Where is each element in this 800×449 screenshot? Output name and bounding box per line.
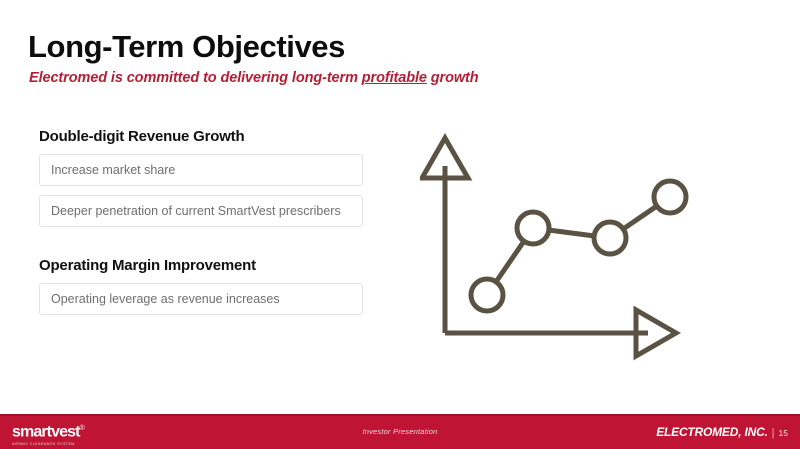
page-title: Long-Term Objectives	[28, 30, 345, 64]
company-name: ELECTROMED, INC.	[656, 425, 767, 439]
subtitle-after: growth	[427, 70, 479, 86]
page-number: 15	[779, 428, 788, 438]
subtitle-emphasis: profitable	[362, 70, 427, 86]
chart-node-3	[594, 222, 626, 254]
bullet-box-increase-market-share[interactable]: Increase market share	[39, 154, 363, 186]
chart-node-1	[471, 279, 503, 311]
chart-series-line	[487, 197, 670, 295]
smartvest-logo-tagline: AIRWAY CLEARANCE SYSTEM	[12, 441, 84, 447]
footer-separator: |	[772, 427, 775, 439]
footer-bar: smartvest® AIRWAY CLEARANCE SYSTEM Inves…	[0, 414, 800, 449]
section-heading-revenue-growth: Double-digit Revenue Growth	[39, 128, 363, 145]
chart-node-2	[517, 212, 549, 244]
chart-node-4	[654, 181, 686, 213]
section-heading-operating-margin: Operating Margin Improvement	[39, 257, 363, 274]
bullet-box-operating-leverage[interactable]: Operating leverage as revenue increases	[39, 283, 363, 315]
bullet-box-deeper-penetration[interactable]: Deeper penetration of current SmartVest …	[39, 195, 363, 227]
subtitle-before: Electromed is committed to delivering lo…	[29, 70, 362, 86]
footer-right-group: ELECTROMED, INC. | 15	[656, 425, 788, 439]
slide-canvas: Long-Term Objectives Electromed is commi…	[0, 0, 800, 449]
page-subtitle: Electromed is committed to delivering lo…	[29, 70, 479, 86]
growth-line-chart-icon	[420, 128, 710, 368]
objectives-column: Double-digit Revenue Growth Increase mar…	[39, 128, 363, 324]
